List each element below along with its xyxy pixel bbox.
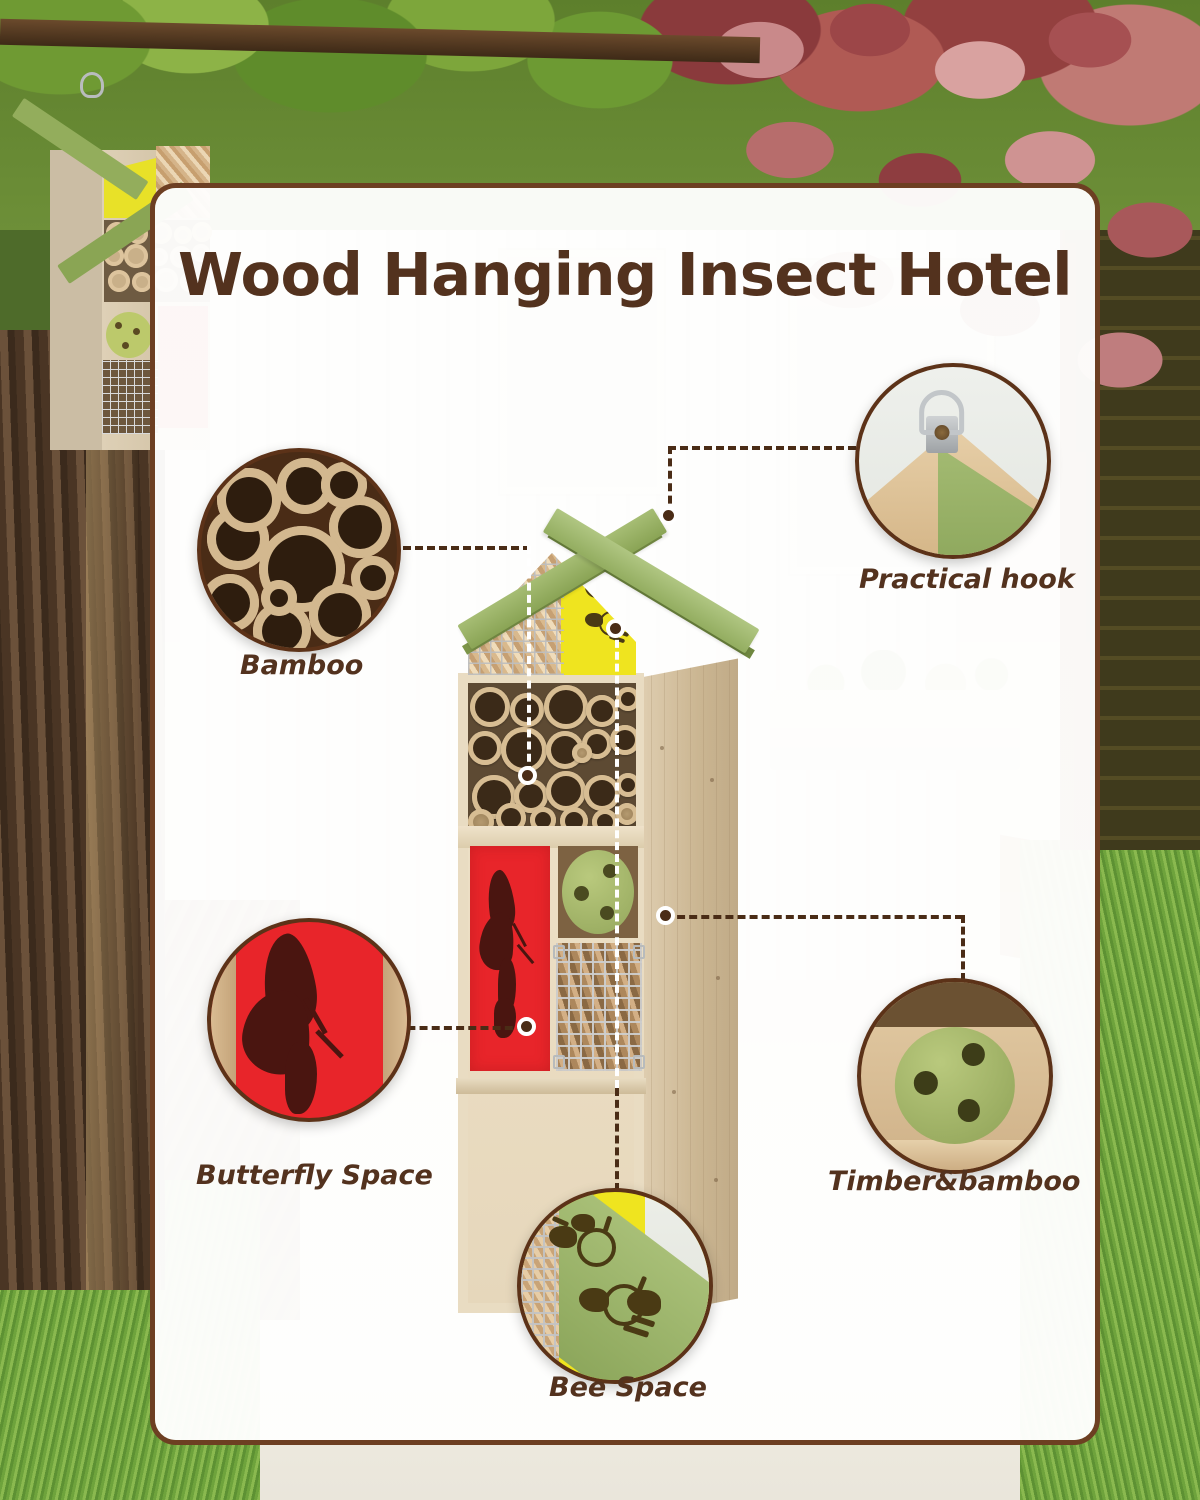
- bamboo-tube: [132, 272, 152, 292]
- connector-bee-vertical-lower: [615, 1088, 619, 1191]
- butterfly-cutout-icon: [241, 934, 371, 1114]
- bamboo-tube: [616, 687, 636, 711]
- callout-label-bamboo: Bamboo: [240, 650, 363, 681]
- bamboo-tube: [321, 462, 367, 508]
- background-product-log: [106, 312, 152, 358]
- callout-bamboo-image: [197, 448, 401, 652]
- bamboo-tube: [616, 773, 636, 797]
- callout-label-timber-bamboo: Timber&bamboo: [828, 1166, 1080, 1197]
- callout-label-practical-hook: Practical hook: [859, 564, 1075, 595]
- connector-hook-horizontal: [668, 446, 868, 450]
- page-title: Wood Hanging Insect Hotel: [155, 240, 1095, 309]
- bamboo-tube: [546, 771, 586, 811]
- timber-cell-shadow: [861, 982, 1049, 1027]
- product-bamboo-row: [468, 683, 636, 828]
- bamboo-tube: [470, 687, 510, 727]
- butterfly-frame-right: [383, 922, 407, 1118]
- bamboo-tube: [572, 743, 592, 763]
- bamboo-tube: [544, 685, 588, 729]
- connector-dot-bamboo: [518, 766, 537, 785]
- bamboo-tube: [610, 725, 636, 755]
- bee-cutout-icon: [549, 1214, 619, 1270]
- connector-dot-timber: [656, 906, 675, 925]
- callout-butterfly-space-image: [207, 918, 411, 1122]
- bamboo-tube: [530, 807, 556, 828]
- timber-log-image: [895, 1027, 1015, 1144]
- bamboo-tube: [217, 468, 281, 532]
- bee-cutout-icon: [579, 1274, 665, 1344]
- butterfly-cutout-icon: [478, 870, 542, 1040]
- bamboo-tube: [351, 556, 395, 600]
- screw-icon: [934, 425, 949, 440]
- connector-dot-hook: [659, 506, 678, 525]
- product-timber-log: [562, 850, 634, 934]
- bamboo-tube: [586, 695, 618, 727]
- bamboo-tube: [468, 731, 502, 765]
- background-tree-trunk-highlight: [86, 330, 138, 1290]
- callout-timber-bamboo-image: [857, 978, 1053, 1174]
- connector-timber-vertical: [961, 915, 965, 981]
- bamboo-tube: [616, 803, 636, 825]
- bamboo-tube: [108, 270, 130, 292]
- product-cage-mesh: [556, 943, 642, 1071]
- butterfly-frame-left: [211, 922, 236, 1118]
- background-product-hook-icon: [80, 72, 104, 98]
- bamboo-tube: [496, 803, 526, 828]
- background-tree-trunk: [0, 330, 165, 1290]
- bamboo-tube: [261, 580, 297, 616]
- bamboo-tube: [201, 574, 259, 632]
- bamboo-tube: [560, 807, 588, 828]
- connector-bee-vertical-upper: [615, 628, 619, 1088]
- callout-practical-hook-image: [855, 363, 1051, 559]
- bamboo-tube: [124, 244, 148, 268]
- connector-bamboo-vertical: [527, 546, 531, 774]
- callout-label-bee-space: Bee Space: [549, 1372, 707, 1403]
- connector-timber-horizontal: [665, 915, 963, 919]
- connector-dot-bee: [606, 619, 625, 638]
- product-mesh-cage: [556, 943, 642, 1071]
- callout-label-butterfly-space: Butterfly Space: [196, 1160, 433, 1191]
- connector-dot-butterfly: [517, 1017, 536, 1036]
- connector-bamboo-horizontal: [391, 546, 531, 550]
- info-panel: Wood Hanging Insect Hotel: [150, 183, 1100, 1445]
- callout-bee-space-image: [517, 1188, 713, 1384]
- product-butterfly-panel: [470, 846, 550, 1071]
